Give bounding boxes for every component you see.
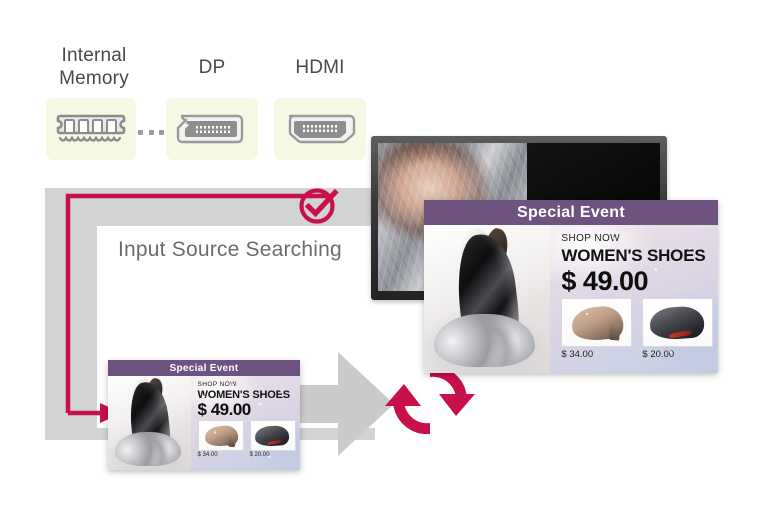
ad-main-price: $ 49.00: [198, 400, 294, 419]
ad-thumb-item[interactable]: $ 34.00: [198, 420, 244, 458]
ad-main-price: $ 49.00: [561, 266, 708, 296]
ad-thumb-price: $ 20.00: [642, 349, 713, 360]
ad-body: SHOP NOW WOMEN'S SHOES $ 49.00 $ 34.00: [108, 376, 300, 470]
jewel-base-shape: [434, 314, 535, 367]
ad-thumb-price: $ 34.00: [198, 452, 244, 458]
ad-poster-small[interactable]: Special Event SHOP NOW WOMEN'S SHOES $ 4…: [108, 360, 300, 470]
beige-pump-shape: [570, 304, 624, 342]
jewel-base-shape: [115, 432, 181, 466]
ad-thumb-item[interactable]: $ 20.00: [642, 298, 713, 360]
dark-pump-shape: [649, 306, 705, 342]
ad-hero-photo: [424, 225, 550, 373]
dot: [149, 130, 154, 135]
ad-thumb-item[interactable]: $ 34.00: [561, 298, 632, 360]
ad-shop-now-label: SHOP NOW: [198, 381, 294, 388]
arrow-right-icon: [286, 352, 394, 456]
source-label-hdmi: HDMI: [272, 56, 368, 79]
ad-thumb-price: $ 34.00: [561, 349, 632, 360]
ad-body: SHOP NOW WOMEN'S SHOES $ 49.00 $ 34.00: [424, 225, 718, 373]
dark-pump-thumb: [642, 298, 713, 347]
source-tile-internal-memory[interactable]: [46, 98, 136, 160]
ad-product-title: WOMEN'S SHOES: [561, 246, 708, 266]
dark-pump-shape: [254, 425, 290, 447]
ad-thumb-item[interactable]: $ 20.00: [250, 420, 296, 458]
dot: [138, 130, 143, 135]
ad-info-panel: SHOP NOW WOMEN'S SHOES $ 49.00 $ 34.00: [550, 225, 718, 373]
beige-pump-thumb: [561, 298, 632, 347]
source-label-internal-memory: Internal Memory: [42, 44, 146, 90]
ad-header-title: Special Event: [424, 200, 718, 225]
source-label-dp: DP: [164, 56, 260, 79]
memory-module-icon: [46, 98, 136, 160]
beige-pump-shape: [204, 424, 238, 448]
ad-info-panel: SHOP NOW WOMEN'S SHOES $ 49.00 $ 34.00: [191, 376, 300, 470]
ad-thumb-price: $ 20.00: [250, 452, 296, 458]
ad-thumbnail-row: $ 34.00 $ 20.00: [561, 298, 708, 360]
diagram-canvas: Internal Memory DP HDMI: [0, 0, 768, 511]
displayport-connector-icon: [166, 98, 258, 160]
ad-thumbnail-row: $ 34.00 $ 20.00: [198, 420, 294, 458]
source-tile-hdmi[interactable]: [274, 98, 366, 160]
beige-pump-thumb: [198, 420, 244, 451]
ellipsis-dots: [138, 128, 164, 136]
ad-shop-now-label: SHOP NOW: [561, 233, 708, 244]
check-circle-icon: [296, 184, 344, 228]
dark-pump-thumb: [250, 420, 296, 451]
dot: [159, 130, 164, 135]
source-tile-dp[interactable]: [166, 98, 258, 160]
ad-header-title: Special Event: [108, 360, 300, 376]
hdmi-connector-icon: [274, 98, 366, 160]
ad-poster-large[interactable]: Special Event SHOP NOW WOMEN'S SHOES $ 4…: [424, 200, 718, 373]
ad-hero-photo: [108, 376, 191, 470]
